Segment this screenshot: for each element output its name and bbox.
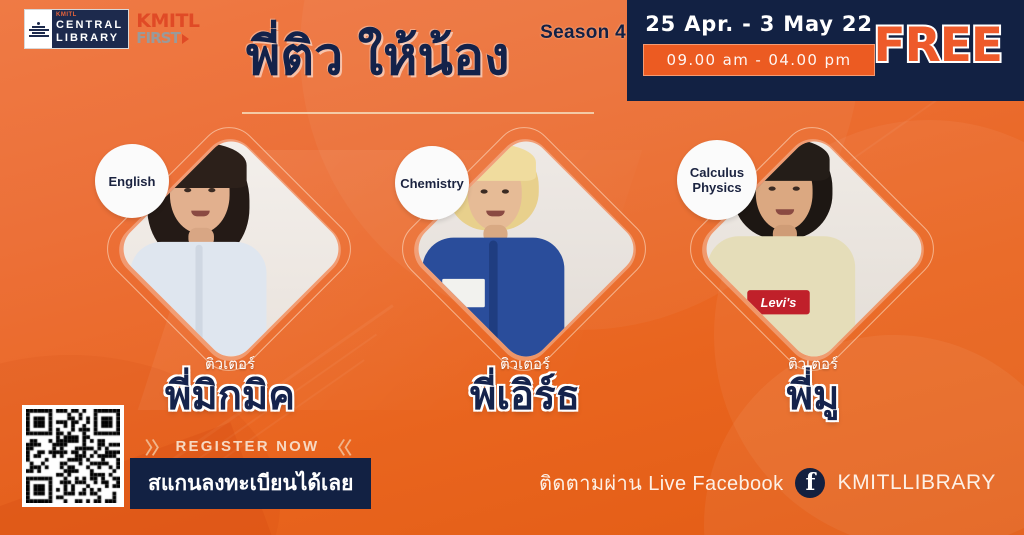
- tutor-photo-frame: Levi's Calculus Physics: [713, 150, 913, 350]
- subject-badge-label: Calculus Physics: [690, 165, 744, 195]
- kmitl-first-logo: KMITL FIRST: [136, 12, 199, 46]
- follow-label: ติดตามผ่าน Live Facebook: [539, 467, 783, 499]
- kmitl-first-line2: FIRST: [136, 31, 199, 46]
- library-logo-central: CENTRAL: [56, 19, 123, 32]
- date-panel: 25 Apr. - 3 May 22 09.00 am - 04.00 pm F…: [627, 0, 1024, 101]
- title-block: Season 4 พี่ติว ให้น้อง: [236, 20, 626, 85]
- library-logo-library: LIBRARY: [56, 32, 123, 45]
- subject-badge-calculus-physics: Calculus Physics: [677, 140, 757, 220]
- facebook-page-name: KMITLLIBRARY: [837, 471, 996, 495]
- time-range: 09.00 am - 04.00 pm: [648, 51, 870, 69]
- promo-banner: KMITL CENTRAL LIBRARY KMITL FIRST Season…: [0, 0, 1024, 535]
- date-range: 25 Apr. - 3 May 22: [643, 12, 875, 36]
- tutor-photo-frame: Chemistry: [425, 150, 625, 350]
- title-underline: [242, 112, 594, 114]
- subject-badge-english: English: [95, 144, 169, 218]
- kmitl-central-library-logo: KMITL CENTRAL LIBRARY: [24, 9, 129, 49]
- tutor-card: English ติวเตอร์ พี่มิกมิค: [105, 150, 355, 418]
- qr-code[interactable]: [22, 405, 124, 507]
- facebook-follow-group[interactable]: ติดตามผ่าน Live Facebook KMITLLIBRARY: [539, 467, 996, 499]
- register-now-text: REGISTER NOW: [176, 438, 320, 455]
- subject-badge-label: Chemistry: [400, 176, 464, 191]
- tutor-name: พี่มิกมิค: [105, 374, 355, 418]
- tutor-name: พี่มู: [688, 374, 938, 418]
- free-badge: FREE: [873, 18, 1002, 73]
- subject-badge-chemistry: Chemistry: [395, 146, 469, 220]
- facebook-icon[interactable]: [795, 468, 825, 498]
- scan-register-label: สแกนลงทะเบียนได้เลย: [148, 472, 353, 495]
- tutor-photo-frame: English: [130, 150, 330, 350]
- register-now-label: 〉〉 REGISTER NOW 〈〈: [145, 434, 350, 459]
- book-mark-icon: [25, 10, 52, 48]
- tutor-card: Levi's Calculus Physics ติวเตอร์ พี่มู: [688, 150, 938, 418]
- logo-group: KMITL CENTRAL LIBRARY KMITL FIRST: [24, 9, 200, 49]
- chevron-right-icon: 〉〉: [145, 434, 167, 459]
- subject-badge-label: English: [109, 174, 156, 189]
- season-label: Season 4: [540, 22, 626, 44]
- chevron-left-icon: 〈〈: [328, 434, 350, 459]
- library-logo-kmitl: KMITL: [56, 12, 123, 19]
- scan-register-button[interactable]: สแกนลงทะเบียนได้เลย: [130, 458, 371, 509]
- tutor-card: Chemistry ติวเตอร์ พี่เอิร์ธ: [400, 150, 650, 418]
- tutor-name: พี่เอิร์ธ: [400, 374, 650, 418]
- time-badge: 09.00 am - 04.00 pm: [643, 44, 875, 76]
- play-icon: [182, 34, 189, 44]
